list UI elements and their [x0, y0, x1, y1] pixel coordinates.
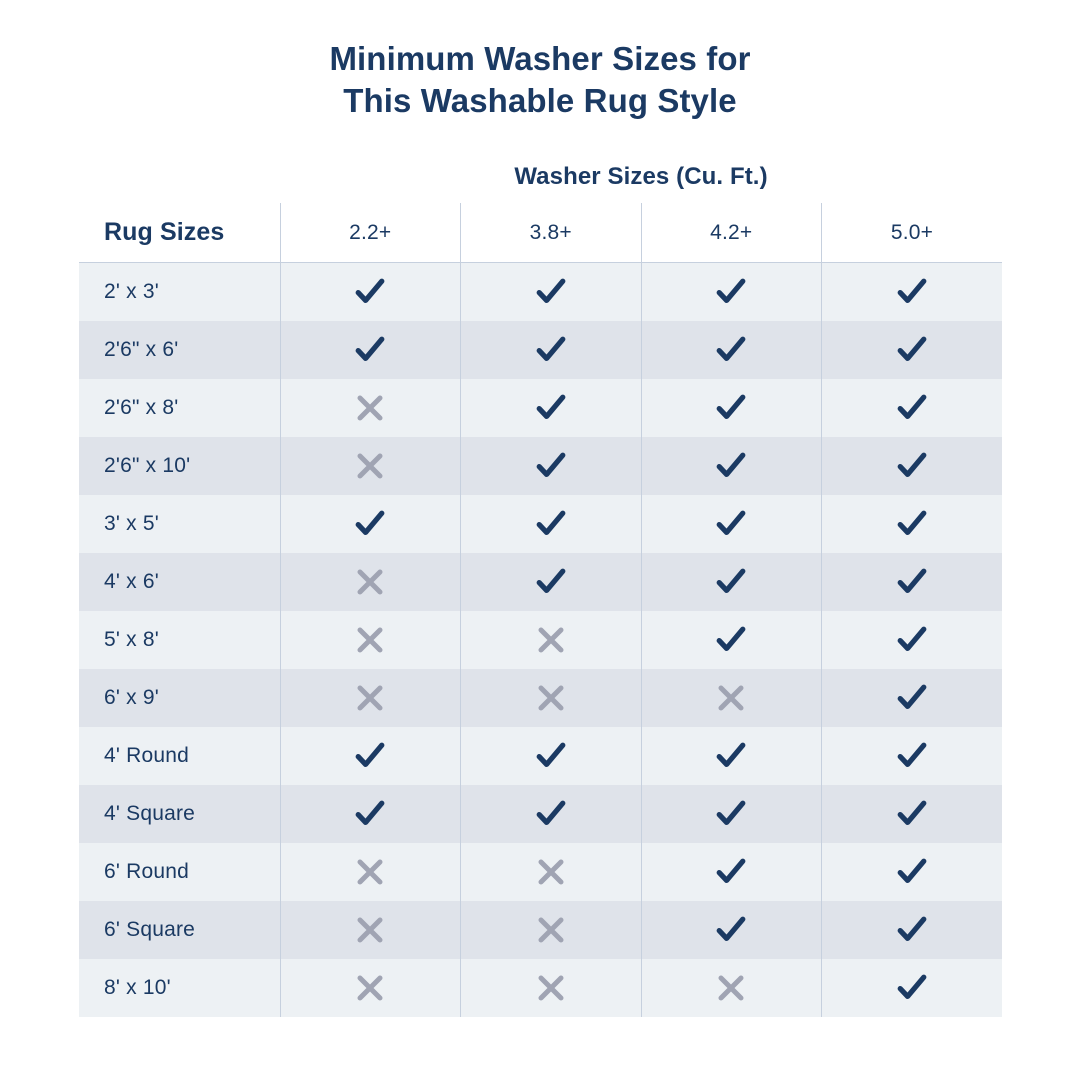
check-icon — [714, 449, 748, 483]
table-row: 4' Square — [79, 785, 1002, 843]
compatibility-cell — [280, 379, 461, 437]
compatibility-cell — [641, 669, 822, 727]
check-icon — [353, 275, 387, 309]
rug-size-label: 2' x 3' — [79, 263, 280, 322]
check-icon — [353, 333, 387, 367]
compatibility-cell — [641, 321, 822, 379]
compatibility-cell — [641, 785, 822, 843]
compatibility-cell — [822, 727, 1003, 785]
rug-size-label: 2'6" x 8' — [79, 379, 280, 437]
washer-size-matrix-table: Rug Sizes 2.2+ 3.8+ 4.2+ 5.0+ 2' x 3'2'6… — [79, 203, 1002, 1017]
column-header-washer-0: 2.2+ — [280, 203, 461, 263]
table-row: 4' Round — [79, 727, 1002, 785]
compatibility-cell — [280, 785, 461, 843]
table-row: 3' x 5' — [79, 495, 1002, 553]
compatibility-cell — [822, 669, 1003, 727]
compatibility-cell — [461, 495, 642, 553]
rug-size-label: 4' Round — [79, 727, 280, 785]
rug-size-label: 2'6" x 10' — [79, 437, 280, 495]
compatibility-cell — [280, 321, 461, 379]
column-header-washer-2: 4.2+ — [641, 203, 822, 263]
check-icon — [714, 797, 748, 831]
page-title: Minimum Washer Sizes for This Washable R… — [0, 38, 1080, 122]
compatibility-cell — [822, 901, 1003, 959]
check-icon — [895, 391, 929, 425]
check-icon — [534, 449, 568, 483]
check-icon — [895, 855, 929, 889]
table-row: 2'6" x 6' — [79, 321, 1002, 379]
compatibility-cell — [280, 553, 461, 611]
table-header: Rug Sizes 2.2+ 3.8+ 4.2+ 5.0+ — [79, 203, 1002, 263]
check-icon — [895, 623, 929, 657]
compatibility-cell — [280, 959, 461, 1017]
compatibility-cell — [461, 785, 642, 843]
check-icon — [895, 913, 929, 947]
rug-size-label: 6' Square — [79, 901, 280, 959]
compatibility-cell — [280, 843, 461, 901]
table-row: 6' Round — [79, 843, 1002, 901]
washer-sizes-group-header: Washer Sizes (Cu. Ft.) — [280, 163, 1002, 191]
compatibility-cell — [822, 611, 1003, 669]
compatibility-cell — [641, 611, 822, 669]
compatibility-cell — [461, 901, 642, 959]
cross-icon — [536, 857, 566, 887]
compatibility-cell — [641, 901, 822, 959]
cross-icon — [716, 973, 746, 1003]
compatibility-cell — [641, 553, 822, 611]
check-icon — [714, 739, 748, 773]
rug-size-label: 8' x 10' — [79, 959, 280, 1017]
check-icon — [353, 739, 387, 773]
check-icon — [714, 623, 748, 657]
cross-icon — [355, 625, 385, 655]
compatibility-cell — [822, 321, 1003, 379]
compatibility-cell — [461, 611, 642, 669]
table-body: 2' x 3'2'6" x 6'2'6" x 8'2'6" x 10'3' x … — [79, 263, 1002, 1018]
cross-icon — [355, 973, 385, 1003]
compatibility-cell — [822, 263, 1003, 322]
check-icon — [714, 275, 748, 309]
table-row: 6' Square — [79, 901, 1002, 959]
compatibility-cell — [461, 727, 642, 785]
rug-size-label: 6' x 9' — [79, 669, 280, 727]
rug-size-label: 4' Square — [79, 785, 280, 843]
table-row: 2' x 3' — [79, 263, 1002, 322]
check-icon — [895, 275, 929, 309]
compatibility-cell — [641, 495, 822, 553]
check-icon — [714, 507, 748, 541]
title-line-1: Minimum Washer Sizes for — [0, 38, 1080, 80]
check-icon — [534, 739, 568, 773]
cross-icon — [536, 973, 566, 1003]
rug-size-label: 2'6" x 6' — [79, 321, 280, 379]
compatibility-cell — [461, 437, 642, 495]
compatibility-cell — [461, 379, 642, 437]
check-icon — [534, 565, 568, 599]
compatibility-cell — [280, 669, 461, 727]
compatibility-cell — [280, 437, 461, 495]
compatibility-cell — [461, 321, 642, 379]
check-icon — [534, 391, 568, 425]
check-icon — [895, 797, 929, 831]
check-icon — [714, 913, 748, 947]
check-icon — [895, 971, 929, 1005]
compatibility-cell — [641, 437, 822, 495]
compatibility-cell — [641, 843, 822, 901]
compatibility-cell — [461, 263, 642, 322]
rug-size-label: 3' x 5' — [79, 495, 280, 553]
check-icon — [895, 681, 929, 715]
compatibility-cell — [641, 959, 822, 1017]
table-row: 6' x 9' — [79, 669, 1002, 727]
cross-icon — [716, 683, 746, 713]
rug-size-label: 4' x 6' — [79, 553, 280, 611]
table-row: 2'6" x 10' — [79, 437, 1002, 495]
cross-icon — [355, 451, 385, 481]
check-icon — [534, 507, 568, 541]
rug-size-label: 6' Round — [79, 843, 280, 901]
column-header-washer-1: 3.8+ — [461, 203, 642, 263]
compatibility-cell — [461, 669, 642, 727]
check-icon — [534, 797, 568, 831]
table-row: 4' x 6' — [79, 553, 1002, 611]
rug-size-label: 5' x 8' — [79, 611, 280, 669]
column-header-washer-3: 5.0+ — [822, 203, 1003, 263]
cross-icon — [355, 683, 385, 713]
check-icon — [895, 565, 929, 599]
check-icon — [895, 739, 929, 773]
compatibility-cell — [461, 553, 642, 611]
check-icon — [895, 333, 929, 367]
table-row: 5' x 8' — [79, 611, 1002, 669]
compatibility-cell — [280, 263, 461, 322]
compatibility-cell — [822, 553, 1003, 611]
column-header-rug-sizes: Rug Sizes — [79, 203, 280, 263]
check-icon — [353, 797, 387, 831]
check-icon — [714, 333, 748, 367]
cross-icon — [536, 625, 566, 655]
cross-icon — [355, 857, 385, 887]
header-row: Rug Sizes 2.2+ 3.8+ 4.2+ 5.0+ — [79, 203, 1002, 263]
cross-icon — [536, 915, 566, 945]
compatibility-cell — [822, 495, 1003, 553]
compatibility-cell — [822, 437, 1003, 495]
check-icon — [714, 855, 748, 889]
cross-icon — [355, 567, 385, 597]
cross-icon — [536, 683, 566, 713]
compatibility-cell — [641, 727, 822, 785]
compatibility-cell — [822, 785, 1003, 843]
compatibility-cell — [280, 611, 461, 669]
check-icon — [534, 275, 568, 309]
compatibility-cell — [822, 379, 1003, 437]
compatibility-cell — [822, 843, 1003, 901]
check-icon — [895, 449, 929, 483]
compatibility-cell — [641, 263, 822, 322]
compatibility-cell — [280, 901, 461, 959]
cross-icon — [355, 393, 385, 423]
check-icon — [895, 507, 929, 541]
check-icon — [714, 391, 748, 425]
check-icon — [714, 565, 748, 599]
title-line-2: This Washable Rug Style — [0, 80, 1080, 122]
compatibility-cell — [280, 727, 461, 785]
cross-icon — [355, 915, 385, 945]
compatibility-cell — [461, 843, 642, 901]
compatibility-cell — [822, 959, 1003, 1017]
infographic-page: Minimum Washer Sizes for This Washable R… — [0, 0, 1080, 1080]
compatibility-cell — [280, 495, 461, 553]
table-row: 8' x 10' — [79, 959, 1002, 1017]
compatibility-cell — [461, 959, 642, 1017]
table-row: 2'6" x 8' — [79, 379, 1002, 437]
compatibility-cell — [641, 379, 822, 437]
check-icon — [353, 507, 387, 541]
check-icon — [534, 333, 568, 367]
